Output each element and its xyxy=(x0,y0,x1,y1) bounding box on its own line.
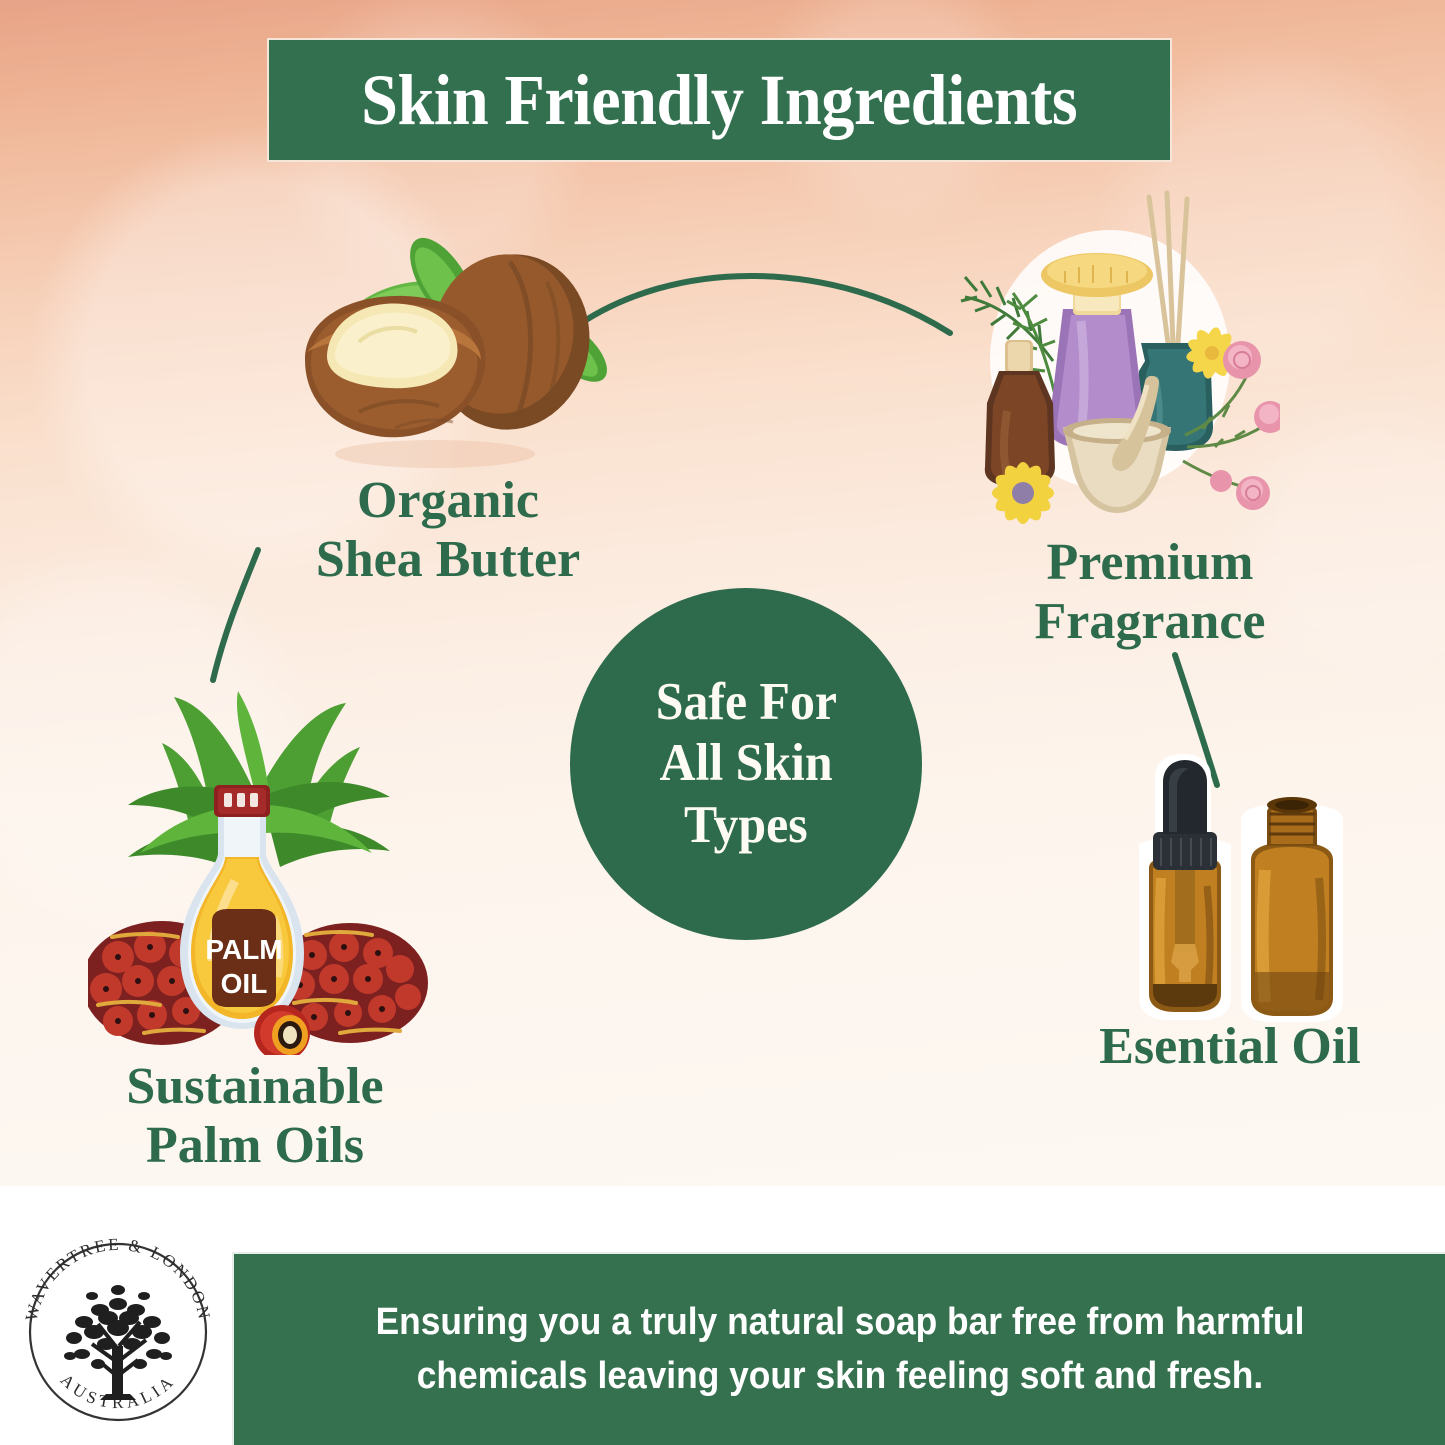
essential-oil-bottles-icon xyxy=(1125,748,1360,1028)
badge-line-3: Types xyxy=(684,795,808,856)
fragrance-bottles-icon xyxy=(935,185,1280,525)
ingredient-label-shea: Organic Shea Butter xyxy=(238,472,658,590)
safe-for-all-skin-types-badge: Safe For All Skin Types xyxy=(570,588,922,940)
footer-message: Ensuring you a truly natural soap bar fr… xyxy=(323,1296,1355,1404)
page-title: Skin Friendly Ingredients xyxy=(361,64,1077,136)
ingredient-label-fragrance: Premium Fragrance xyxy=(955,534,1345,652)
footer-banner: Ensuring you a truly natural soap bar fr… xyxy=(232,1252,1445,1445)
palm-oil-bottle-icon: PALM OIL xyxy=(88,685,428,1055)
shea-nut-icon xyxy=(285,222,615,482)
ingredient-label-palm: Sustainable Palm Oils xyxy=(40,1058,470,1176)
ingredient-label-essential: Esential Oil xyxy=(1020,1018,1440,1077)
bottle-label-line2: OIL xyxy=(221,968,268,999)
brand-logo: WAVERTREE & LONDON AUSTRALIA xyxy=(14,1228,222,1436)
infographic-canvas: Skin Friendly Ingredients xyxy=(0,0,1445,1445)
header-banner: Skin Friendly Ingredients xyxy=(267,38,1172,162)
badge-line-1: Safe For xyxy=(655,672,836,733)
badge-line-2: All Skin xyxy=(659,733,832,794)
bottle-label-line1: PALM xyxy=(205,934,282,965)
